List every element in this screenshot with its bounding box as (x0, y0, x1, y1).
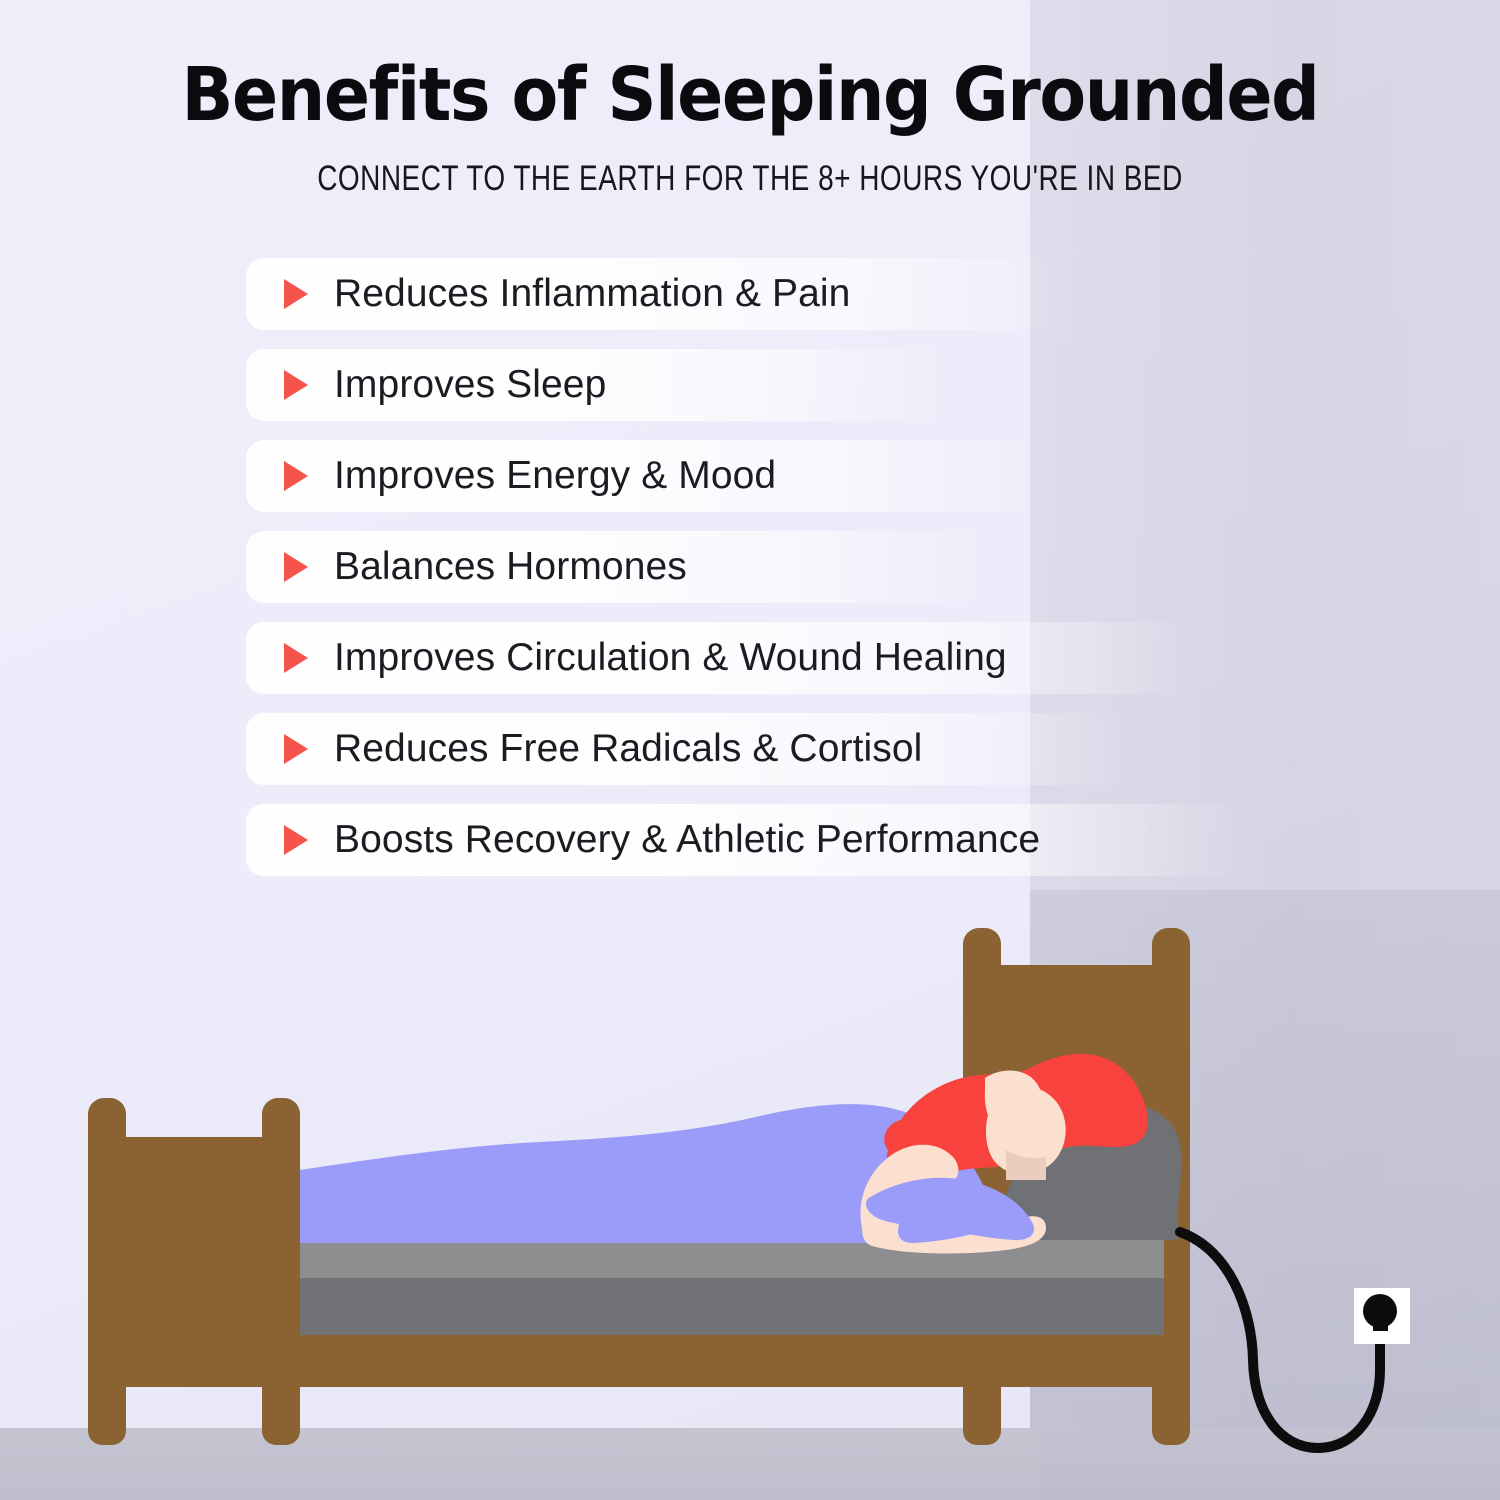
right-triangle-icon (284, 643, 308, 673)
wall-right-panel (1030, 890, 1500, 1428)
page-title: Benefits of Sleeping Grounded (60, 58, 1440, 133)
right-triangle-icon (284, 734, 308, 764)
right-triangle-icon (284, 825, 308, 855)
floor (1040, 1428, 1500, 1500)
right-triangle-icon (284, 279, 308, 309)
benefit-item-2[interactable]: Improves Sleep (246, 349, 946, 421)
header: Benefits of Sleeping Grounded CONNECT TO… (0, 58, 1500, 199)
benefit-label: Reduces Free Radicals & Cortisol (334, 727, 922, 771)
benefit-label: Boosts Recovery & Athletic Performance (334, 818, 1040, 862)
benefits-list: Reduces Inflammation & Pain Improves Sle… (246, 258, 1306, 895)
benefit-item-5[interactable]: Improves Circulation & Wound Healing (246, 622, 1196, 694)
benefit-label: Improves Energy & Mood (334, 454, 776, 498)
benefit-item-1[interactable]: Reduces Inflammation & Pain (246, 258, 1066, 330)
benefit-item-6[interactable]: Reduces Free Radicals & Cortisol (246, 713, 1126, 785)
right-triangle-icon (284, 461, 308, 491)
right-triangle-icon (284, 552, 308, 582)
benefit-item-4[interactable]: Balances Hormones (246, 531, 986, 603)
right-triangle-icon (284, 370, 308, 400)
benefit-label: Reduces Inflammation & Pain (334, 272, 850, 316)
benefit-label: Improves Sleep (334, 363, 606, 407)
benefit-label: Improves Circulation & Wound Healing (334, 636, 1007, 680)
page-subtitle: CONNECT TO THE EARTH FOR THE 8+ HOURS YO… (150, 159, 1350, 199)
benefit-item-3[interactable]: Improves Energy & Mood (246, 440, 1046, 512)
benefit-item-7[interactable]: Boosts Recovery & Athletic Performance (246, 804, 1246, 876)
benefit-label: Balances Hormones (334, 545, 687, 589)
infographic-page: Benefits of Sleeping Grounded CONNECT TO… (0, 0, 1500, 1500)
floor-left (0, 1428, 1040, 1500)
